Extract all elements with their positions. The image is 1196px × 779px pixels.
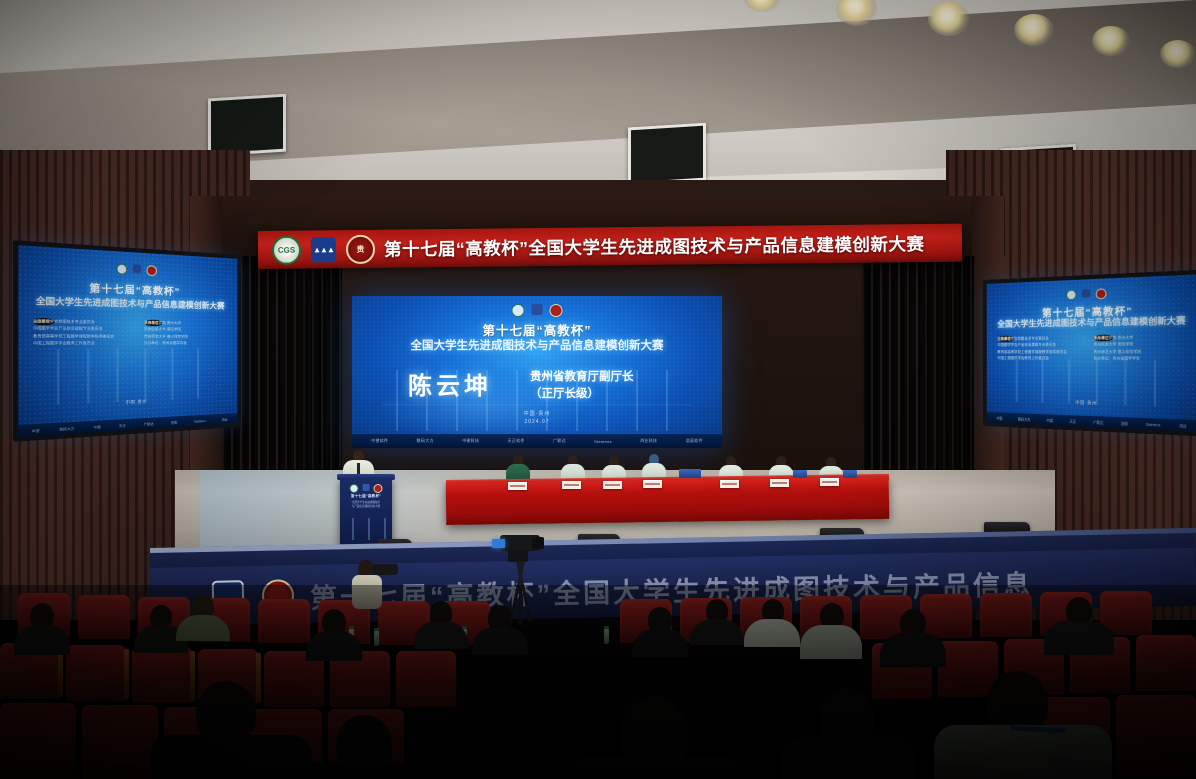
- laptop: [843, 470, 857, 478]
- podium-subtitle-line2: 与产品信息建模创新大赛: [340, 505, 392, 509]
- audience-shoulders: [14, 625, 70, 655]
- seat-armrest: [256, 653, 261, 703]
- screen-date: 2024.07: [352, 419, 722, 427]
- screen-speaker-name: 陈云坤: [408, 366, 492, 401]
- audience-shoulders: [414, 621, 468, 649]
- panelist-name-card: [770, 479, 789, 487]
- seat-armrest: [190, 651, 195, 701]
- audience-shoulders: [744, 619, 800, 647]
- seat-armrest: [124, 649, 129, 699]
- speaker-role-line2: （正厅长级）: [530, 386, 634, 403]
- sponsor-logo: 数码大方: [417, 438, 434, 444]
- auditorium-seat: [980, 593, 1032, 637]
- audience-shoulders: [632, 629, 688, 657]
- red-seal-logo: [374, 484, 383, 493]
- audience-shoulders-foreground: [292, 763, 442, 779]
- ceiling-vent: [208, 94, 286, 157]
- audience-shoulders: [472, 627, 528, 655]
- three-figures-blue-logo: [363, 484, 370, 491]
- podium-title: 第十七届“高教杯”: [340, 494, 392, 499]
- banner-title-text: 第十七届“高教杯”全国大学生先进成图技术与产品信息建模创新大赛: [384, 231, 925, 262]
- camera-viewfinder-screen: [492, 539, 505, 548]
- ceiling-downlight: [1160, 40, 1196, 68]
- handheld-camera-body: [372, 564, 398, 575]
- conference-hall-photo: CGS ▲▲▲ 贵 第十七届“高教杯”全国大学生先进成图技术与产品信息建模创新大…: [0, 0, 1196, 779]
- audience-shoulders: [1044, 621, 1114, 655]
- ceiling-vent: [628, 123, 706, 186]
- china-graphics-society-logo: [512, 304, 525, 317]
- screen-logo-group: [512, 304, 563, 317]
- sponsor-logo: 中望软件: [371, 438, 388, 444]
- bottle-cap: [604, 626, 609, 629]
- audience-shoulders-foreground: [150, 735, 312, 779]
- ceiling-downlight: [928, 2, 970, 36]
- banner-logo-group: CGS ▲▲▲ 贵: [266, 234, 375, 264]
- sponsor-logo: 鸿业科技: [640, 438, 657, 444]
- auditorium-seat: [82, 705, 158, 779]
- sponsor-logo: 浩辰软件: [686, 438, 703, 444]
- audience-shoulders: [800, 625, 862, 659]
- screen-title-line2: 全国大学生先进成图技术与产品信息建模创新大赛: [352, 337, 722, 353]
- screen-sponsor-bar: 中望软件 数码大方 中建科技 天正软件 广联达 Siemens 鸿业科技 浩辰软…: [352, 434, 722, 448]
- laptop: [793, 470, 807, 478]
- speaker-role-line1: 贵州省教育厅副厅长: [530, 369, 634, 386]
- sponsor-logo: 天正软件: [508, 438, 525, 444]
- screen-speaker-role: 贵州省教育厅副厅长 （正厅长级）: [530, 369, 634, 402]
- red-seal-logo: [550, 304, 563, 317]
- china-graphics-society-logo: [350, 484, 359, 493]
- audience-shoulders: [306, 631, 362, 661]
- auditorium-seat: [1116, 695, 1196, 777]
- auditorium-seat: [66, 645, 126, 701]
- three-figures-blue-logo: [532, 304, 543, 315]
- main-led-screen: 第十七届“高教杯” 全国大学生先进成图技术与产品信息建模创新大赛 陈云坤 贵州省…: [352, 296, 722, 448]
- panelist-name-card: [820, 478, 839, 486]
- laptop: [679, 469, 701, 478]
- water-bottle: [604, 629, 609, 644]
- audience-shoulders-foreground: [934, 725, 1112, 779]
- event-header-banner: CGS ▲▲▲ 贵 第十七届“高教杯”全国大学生先进成图技术与产品信息建模创新大…: [258, 224, 962, 269]
- red-seal-logo: 贵: [346, 234, 375, 263]
- auditorium-seat: [0, 703, 76, 779]
- sponsor-logo: 广联达: [553, 438, 566, 444]
- sponsor-logo: 中建科技: [462, 438, 479, 444]
- audience-shoulders: [690, 619, 744, 645]
- right-screen-bezel: [983, 269, 1196, 436]
- bottle-cap: [349, 626, 354, 629]
- screen-place: 中国·贵州: [352, 411, 722, 419]
- bottle-cap: [374, 628, 379, 631]
- podium-subtitle: 全国大学生先进成图技术 与产品信息建模创新大赛: [340, 501, 392, 510]
- auditorium-seat: [920, 594, 972, 638]
- panelist-name-card: [603, 481, 622, 489]
- sponsor-logo: Siemens: [594, 439, 612, 444]
- panelist-name-card: [508, 482, 527, 490]
- panelist-name-card: [643, 480, 662, 488]
- auditorium-seat: [78, 595, 130, 639]
- panelist-name-card: [562, 481, 581, 489]
- ceiling-downlight: [1092, 26, 1130, 56]
- screen-place-date: 中国·贵州 2024.07: [352, 411, 722, 426]
- audience-shoulders-foreground: [566, 757, 746, 779]
- ceiling-downlight: [1014, 14, 1054, 46]
- camera-operator-body: [352, 575, 382, 609]
- left-screen-bezel: [13, 240, 241, 442]
- podium-skyline-graphic: [346, 518, 386, 540]
- podium-logo-group: [350, 484, 383, 493]
- panelist-name-card: [720, 480, 739, 488]
- audience-area: [0, 585, 1196, 779]
- three-figures-blue-logo: ▲▲▲: [311, 237, 336, 262]
- auditorium-seat: [1136, 635, 1196, 691]
- water-bottle: [374, 631, 379, 646]
- auditorium-seat: [396, 651, 456, 707]
- auditorium-seat: [132, 647, 192, 703]
- audience-shoulders-foreground: [780, 737, 916, 779]
- camera-lens-hood: [532, 537, 544, 549]
- auditorium-seat: [258, 599, 310, 643]
- china-graphics-society-logo: CGS: [272, 235, 301, 264]
- audience-shoulders: [880, 633, 946, 667]
